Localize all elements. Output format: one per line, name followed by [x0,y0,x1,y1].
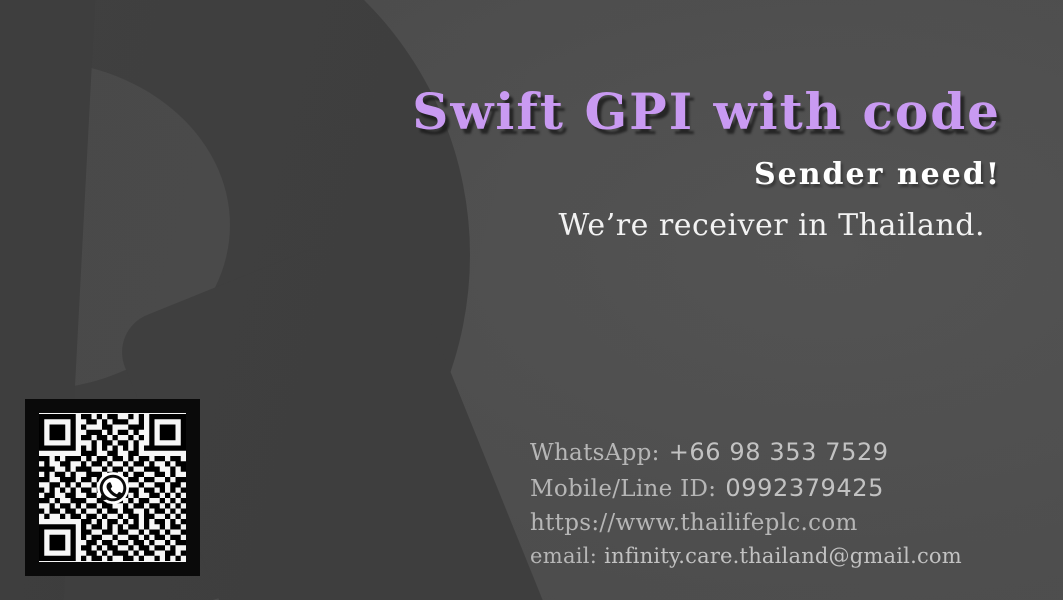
website-link[interactable]: https://www.thailifeplc.com [530,512,858,535]
page-title: Swift GPI with code [0,82,1001,141]
contact-row-email: email: infinity.care.thailand@gmail.com [530,546,962,567]
whatsapp-label: WhatsApp: [530,442,660,465]
contact-row-mobile: Mobile/Line ID: 0992379425 [530,476,962,501]
qr-code[interactable] [39,413,186,562]
qr-code-frame[interactable] [25,399,200,576]
tagline: We’re receiver in Thailand. [0,208,985,243]
contact-row-whatsapp: WhatsApp: +66 98 353 7529 [530,440,962,465]
contact-row-website: https://www.thailifeplc.com [530,512,962,535]
mobile-line-label: Mobile/Line ID: [530,478,716,501]
subtitle: Sender need! [0,157,1001,192]
business-card: Swift GPI with code Sender need! We’re r… [0,0,1063,600]
whatsapp-icon [96,471,130,505]
contact-block: WhatsApp: +66 98 353 7529 Mobile/Line ID… [530,440,962,578]
email-label: email: [530,546,597,567]
email-address[interactable]: infinity.care.thailand@gmail.com [604,546,962,567]
mobile-line-number[interactable]: 0992379425 [725,476,884,500]
whatsapp-number[interactable]: +66 98 353 7529 [669,440,889,464]
